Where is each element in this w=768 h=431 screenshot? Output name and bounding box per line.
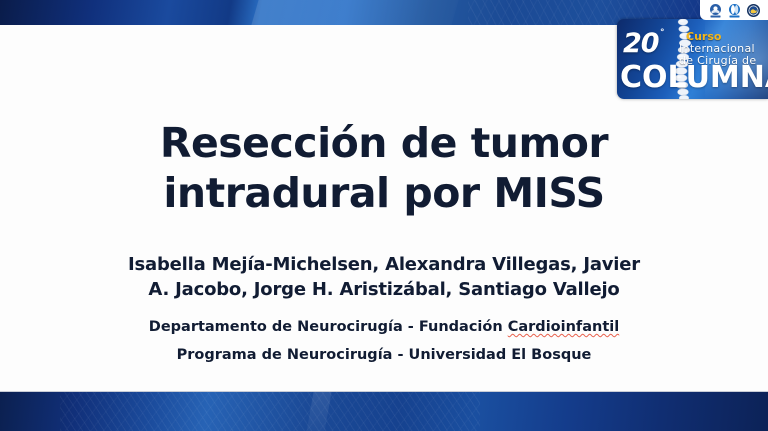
page-title: Resección de tumor intradural por MISS [60, 118, 708, 218]
affiliation-1-prefix: Departamento de Neurocirugía - Fundación [149, 319, 508, 335]
slide-content: Resección de tumor intradural por MISS I… [0, 25, 768, 392]
top-band-sheen [251, 0, 458, 25]
bottom-decorative-band [0, 391, 768, 431]
affiliation-1-misspelled-word: Cardioinfantil [508, 317, 619, 337]
affiliation-line-2: Programa de Neurocirugía - Universidad E… [64, 345, 704, 365]
authors-line-2: A. Jacobo, Jorge H. Aristizábal, Santiag… [64, 277, 704, 302]
flanc-logo [746, 3, 761, 18]
bottom-band-texture [60, 391, 480, 431]
title-line-1: Resección de tumor [60, 118, 708, 168]
sccot-logo [708, 3, 723, 18]
organization-logos-panel [700, 0, 768, 20]
authors-list: Isabella Mejía-Michelsen, Alexandra Vill… [64, 252, 704, 302]
title-line-2: intradural por MISS [60, 168, 708, 218]
authors-line-1: Isabella Mejía-Michelsen, Alexandra Vill… [64, 252, 704, 277]
affiliation-line-1: Departamento de Neurocirugía - Fundación… [64, 317, 704, 337]
presentation-slide: 20 ° Curso Internacional de Cirugía de C… [0, 0, 768, 431]
sncc-logo [727, 3, 742, 18]
